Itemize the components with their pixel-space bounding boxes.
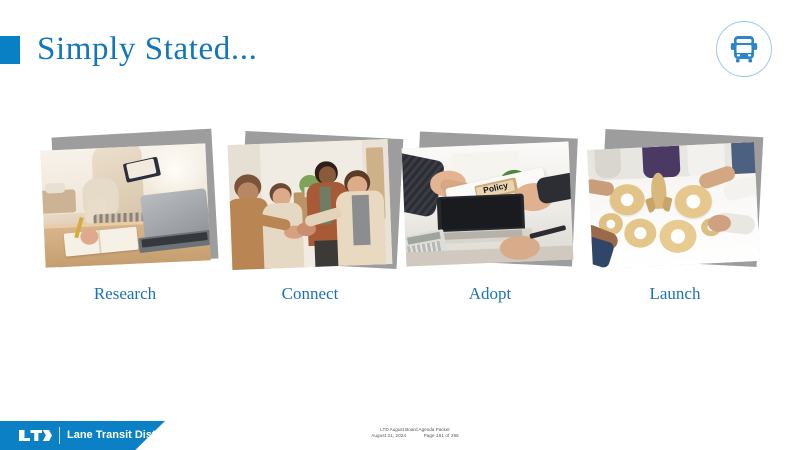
footer-divider <box>59 427 60 444</box>
document-meta: LTD August Board Agenda Packet August 21… <box>300 427 530 440</box>
step-label-adopt: Adopt <box>430 284 550 304</box>
document-page: Page 161 of 296 <box>424 433 459 439</box>
document-date-page: August 21, 2024 Page 161 of 296 <box>300 433 530 439</box>
step-image-launch <box>587 142 760 269</box>
footer-agency-name: Lane Transit District <box>67 428 173 443</box>
document-date: August 21, 2024 <box>371 433 406 438</box>
step-label-launch: Launch <box>615 284 735 304</box>
step-label-connect: Connect <box>250 284 370 304</box>
step-image-research <box>40 143 210 267</box>
step-image-connect <box>228 139 393 270</box>
ltd-logo <box>18 429 52 442</box>
process-step-gallery: Research <box>0 0 800 450</box>
step-label-research: Research <box>65 284 185 304</box>
step-image-adopt: Policy <box>402 142 574 267</box>
